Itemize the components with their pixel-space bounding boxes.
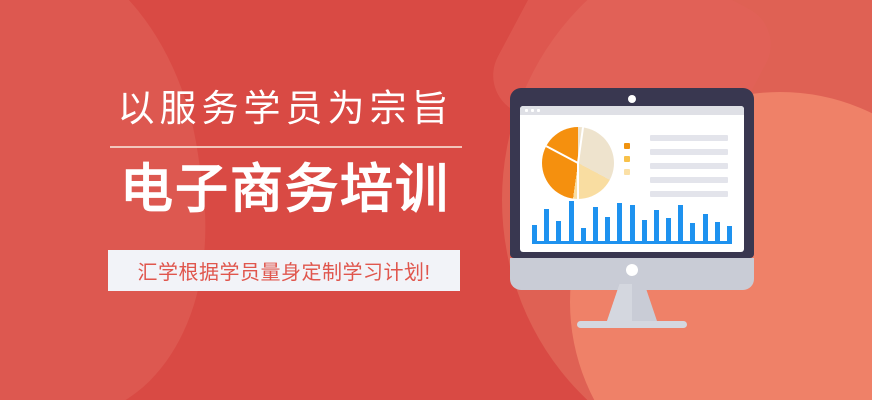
bar-chart-bar: [630, 205, 635, 241]
bar-chart-bar: [617, 203, 622, 241]
placeholder-line: [650, 149, 728, 155]
legend-swatch: [624, 156, 630, 162]
placeholder-text-lines: [650, 135, 728, 197]
bar-chart-bar: [544, 209, 549, 241]
dashboard-content: [520, 115, 744, 252]
text-block: 以服务学员为宗旨 电子商务培训 汇学根据学员量身定制学习计划!: [0, 0, 500, 400]
titlebar-dot-icon: [537, 109, 540, 112]
placeholder-line: [650, 135, 728, 141]
monitor-screen: [520, 106, 744, 252]
monitor-stand-base: [577, 321, 687, 328]
bar-chart-bar: [593, 207, 598, 241]
chart-legend: [624, 143, 630, 175]
titlebar-dot-icon: [525, 109, 528, 112]
bar-chart-bar: [678, 205, 683, 241]
bar-chart: [532, 198, 732, 244]
bar-chart-bar: [715, 222, 720, 241]
placeholder-line: [650, 177, 728, 183]
bar-chart-bar: [569, 201, 574, 241]
bar-chart-bar: [532, 225, 537, 241]
subtitle-banner: 汇学根据学员量身定制学习计划!: [108, 250, 460, 291]
bar-chart-bar: [581, 228, 586, 241]
monitor-bezel: [510, 88, 754, 258]
bar-chart-bar: [654, 210, 659, 241]
camera-dot-icon: [628, 95, 636, 103]
headline-divider: [110, 146, 462, 148]
headline-tagline: 以服务学员为宗旨: [108, 88, 463, 131]
bar-chart-bars: [532, 199, 732, 241]
window-titlebar: [520, 106, 744, 115]
home-button-icon: [626, 264, 638, 276]
placeholder-line: [650, 191, 728, 197]
pie-chart: [542, 127, 614, 199]
pie-slice-divider: [577, 163, 579, 199]
bar-chart-bar: [727, 226, 732, 241]
bar-chart-bar: [605, 217, 610, 241]
bar-chart-bar: [690, 223, 695, 241]
bar-chart-bar: [556, 221, 561, 241]
placeholder-line: [650, 163, 728, 169]
bar-chart-bar: [666, 218, 671, 241]
titlebar-dot-icon: [531, 109, 534, 112]
promo-banner: 以服务学员为宗旨 电子商务培训 汇学根据学员量身定制学习计划!: [0, 0, 872, 400]
legend-swatch: [624, 169, 630, 175]
bar-chart-axis: [532, 241, 732, 244]
legend-swatch: [624, 143, 630, 149]
subtitle-text: 汇学根据学员量身定制学习计划!: [137, 256, 430, 285]
bar-chart-bar: [642, 220, 647, 241]
monitor-illustration: [510, 88, 754, 338]
bar-chart-bar: [703, 214, 708, 241]
page-title: 电子商务培训: [104, 160, 466, 219]
